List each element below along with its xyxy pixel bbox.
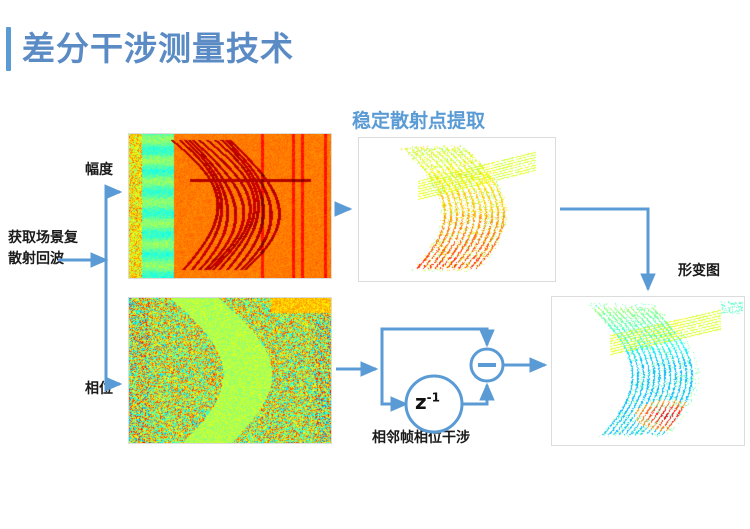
summing-junction-node [471,349,503,381]
phase-sar-image [128,297,332,444]
minus-icon [478,363,496,367]
delay-block-symbol: z [415,390,427,414]
delay-block-label: z-1 [415,390,440,414]
amplitude-sar-image [128,133,332,279]
page-title: 差分干涉测量技术 [22,26,294,72]
heading-stable-scatterer-extraction: 稳定散射点提取 [352,106,485,133]
delay-block-exponent: -1 [427,390,440,404]
stable-scatterer-image [358,137,556,282]
title-accent-bar [6,27,11,71]
label-phase: 相位 [85,379,113,400]
slide-canvas: 差分干涉测量技术 稳定散射点提取 获取场景复 散射回波 幅度 相位 形变图 相邻… [0,0,750,529]
wire-delay-to-sum [462,385,487,404]
wire-to-delay-block [382,369,406,404]
label-adjacent-frame-interference: 相邻帧相位干涉 [372,428,470,449]
label-deformation-map: 形变图 [678,261,720,282]
deformation-map-image [551,296,745,446]
label-amplitude: 幅度 [85,160,113,181]
wire-scatter-to-deformation [560,209,648,289]
wire-direct-path [382,329,487,369]
label-source-echo: 获取场景复 散射回波 [8,228,128,270]
